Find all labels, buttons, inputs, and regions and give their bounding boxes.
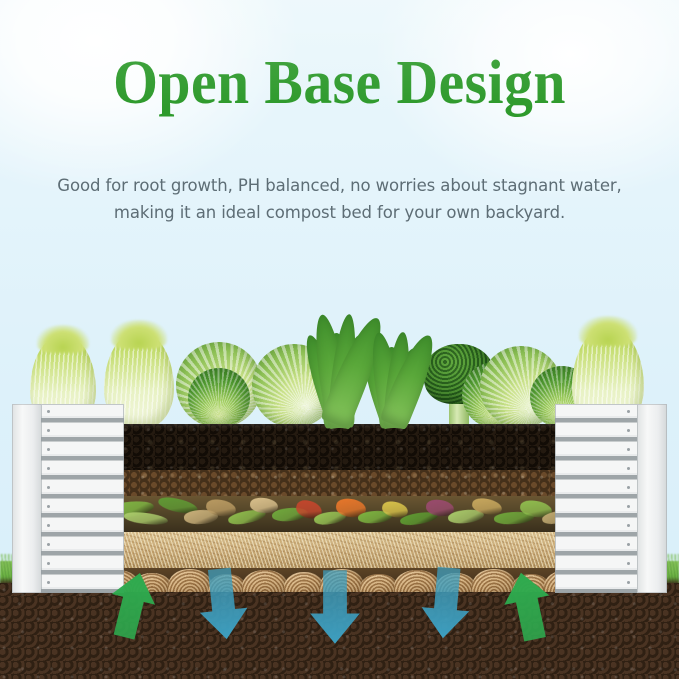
panel-rivet xyxy=(47,524,50,527)
panel-rivet xyxy=(627,486,630,489)
panel-rivet xyxy=(47,448,50,451)
panel-rivet xyxy=(627,524,630,527)
panel-rivet xyxy=(627,505,630,508)
flow-arrow-group xyxy=(0,565,679,679)
arrow-down-3-icon xyxy=(417,563,475,643)
bed-layer-topsoil xyxy=(100,424,570,470)
bed-layer-midsoil xyxy=(100,470,570,496)
panel-rivet xyxy=(47,486,50,489)
panel-rivet xyxy=(627,448,630,451)
page-title: Open Base Design xyxy=(24,52,655,114)
panel-rivet xyxy=(627,467,630,470)
arrow-down-1-icon xyxy=(193,562,253,645)
panel-rivet xyxy=(627,543,630,546)
product-feature-image: Open Base Design Good for root growth, P… xyxy=(0,0,679,679)
subtitle-line-2: making it an ideal compost bed for your … xyxy=(26,200,653,227)
subtitle-line-1: Good for root growth, PH balanced, no wo… xyxy=(57,176,621,195)
bed-layer-straw xyxy=(100,532,570,568)
arrow-down-2-icon xyxy=(308,567,362,647)
page-subtitle: Good for root growth, PH balanced, no wo… xyxy=(26,173,653,226)
savoy-cabbage-1 xyxy=(188,368,250,428)
panel-rivet xyxy=(627,410,630,413)
arrow-up-left-icon xyxy=(97,565,168,645)
bed-layer-kitchen-scraps xyxy=(100,496,570,532)
scrap-piece xyxy=(124,511,169,527)
panel-rivet xyxy=(47,543,50,546)
panel-rivet xyxy=(627,429,630,432)
panel-rivet xyxy=(47,505,50,508)
panel-rivet xyxy=(47,410,50,413)
arrow-up-right-icon xyxy=(493,566,562,646)
panel-rivet xyxy=(47,429,50,432)
panel-rivet xyxy=(47,467,50,470)
